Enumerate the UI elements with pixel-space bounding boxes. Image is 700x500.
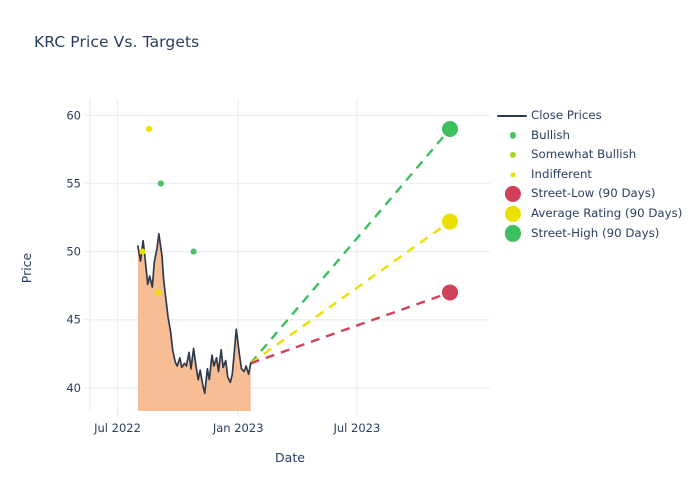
x-tick-label: Jul 2023 [332,421,380,435]
x-tick-label: Jan 2023 [212,421,264,435]
legend-item-indifferent[interactable]: Indifferent [497,165,697,185]
y-axis-tick-labels: 4045505560 [66,108,81,394]
legend-dot-icon [497,204,529,224]
dot-swatch [510,172,515,177]
data-point[interactable] [146,126,152,132]
line-swatch [497,115,527,117]
data-point[interactable] [442,284,458,300]
dot-swatch [505,206,521,222]
legend-dot-icon [497,224,529,244]
projection-lines [251,129,450,363]
street-high-projection [251,129,450,363]
y-tick-label: 60 [66,108,81,122]
legend-item-label: Street-High (90 Days) [529,224,659,244]
scatter-points [139,121,458,300]
x-tick-label: Jul 2022 [93,421,141,435]
legend-dot-icon [497,145,529,165]
y-tick-label: 45 [66,313,81,327]
x-axis-tick-labels: Jul 2022Jan 2023Jul 2023 [93,421,380,435]
y-tick-label: 40 [66,381,81,395]
data-point[interactable] [155,289,161,295]
legend-item-street-high-90-days[interactable]: Street-High (90 Days) [497,224,697,244]
data-point[interactable] [442,121,458,137]
street-low-projection [251,292,450,363]
legend-item-street-low-90-days[interactable]: Street-Low (90 Days) [497,184,697,204]
legend-item-label: Street-Low (90 Days) [529,184,656,204]
y-axis-title: Price [19,252,34,283]
legend-item-average-rating-90-days[interactable]: Average Rating (90 Days) [497,204,697,224]
plot-area: 4045505560 Jul 2022Jan 2023Jul 2023 Pric… [0,0,700,500]
legend-item-close-prices[interactable]: Close Prices [497,106,697,126]
x-axis-title: Date [275,450,305,465]
data-point[interactable] [139,248,145,254]
legend-item-label: Somewhat Bullish [529,145,636,165]
legend-item-label: Close Prices [529,106,602,126]
dot-swatch [510,132,516,138]
legend-item-label: Average Rating (90 Days) [529,204,682,224]
data-point[interactable] [191,248,197,254]
y-tick-label: 55 [66,176,81,190]
legend-item-bullish[interactable]: Bullish [497,126,697,146]
data-point[interactable] [158,180,164,186]
legend-dot-icon [497,126,529,146]
legend-dot-icon [497,184,529,204]
legend-dot-icon [497,165,529,185]
legend-item-somewhat-bullish[interactable]: Somewhat Bullish [497,145,697,165]
legend-line-icon [497,106,529,126]
chart-figure: KRC Price Vs. Targets 4045505560 Jul 202… [0,0,700,500]
chart-legend: Close PricesBullishSomewhat BullishIndif… [497,106,697,243]
dot-swatch [510,152,516,158]
dot-swatch [505,225,521,241]
dot-swatch [505,186,521,202]
data-point[interactable] [442,214,458,230]
legend-item-label: Indifferent [529,165,592,185]
y-tick-label: 50 [66,245,81,259]
average-rating-projection [251,222,450,364]
legend-item-label: Bullish [529,126,570,146]
